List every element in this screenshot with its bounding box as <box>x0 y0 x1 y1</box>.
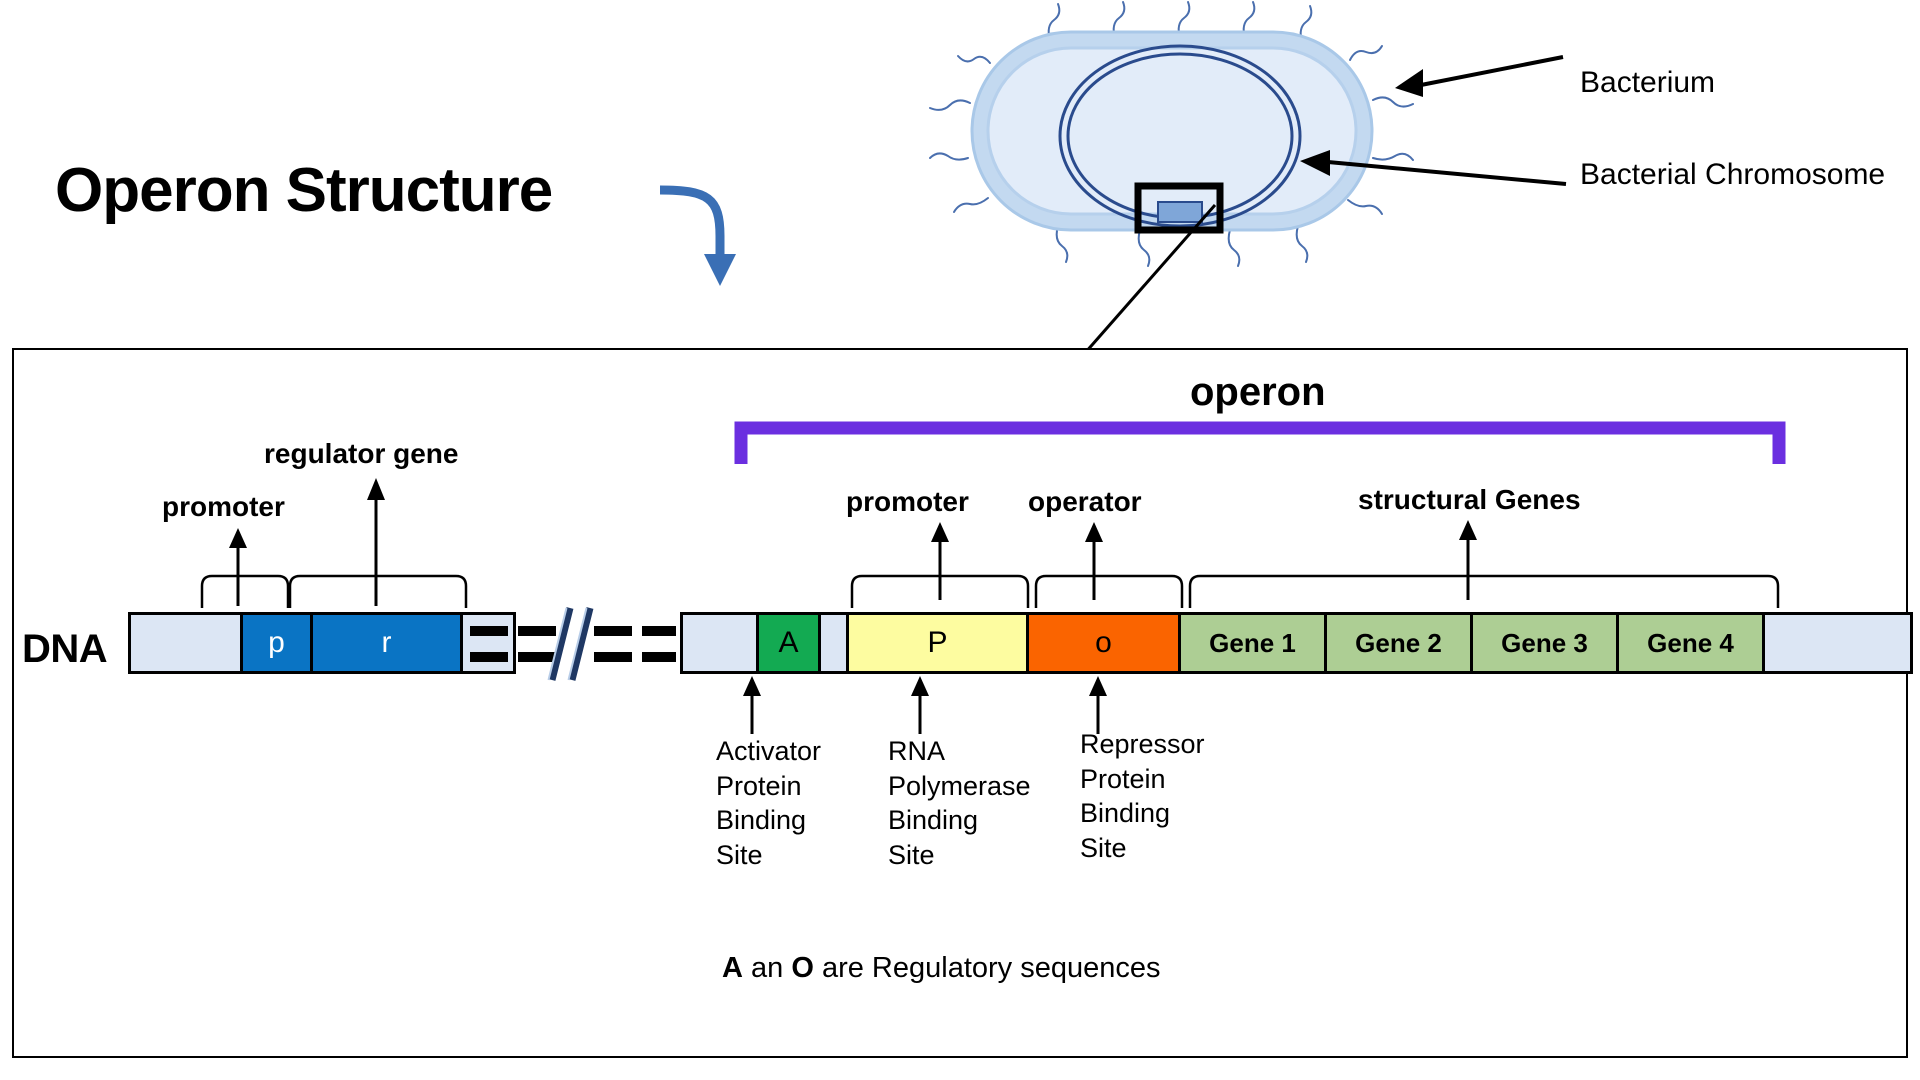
dna-label: DNA <box>22 627 107 672</box>
dna-segment-spacer-left-1 <box>131 615 243 671</box>
regulator-promoter-brace <box>200 570 290 610</box>
rna-polymerase-binding-pointer <box>890 676 950 736</box>
dna-segment-spacer-right-2 <box>821 615 849 671</box>
page-title: Operon Structure <box>55 160 552 222</box>
operon-heading: operon <box>1190 370 1326 415</box>
regulator-gene-label: regulator gene <box>264 440 458 468</box>
operon-promoter-label: promoter <box>846 488 969 516</box>
regulator-promoter-label: promoter <box>162 493 285 521</box>
chromosome-pointer-arrow-icon <box>1298 150 1568 190</box>
dna-segment-spacer-right-1 <box>683 615 759 671</box>
caption-mid: an <box>743 952 791 984</box>
dna-segment-gene-4: Gene 4 <box>1619 615 1765 671</box>
caption-bold-a: A <box>722 952 743 984</box>
operon-operator-label: operator <box>1028 488 1142 516</box>
operon-promoter-brace <box>850 568 1030 610</box>
dna-segment-regulator-r: r <box>313 615 463 671</box>
bacterium-label: Bacterium <box>1580 68 1715 98</box>
regulatory-sequences-caption: A an O are Regulatory sequences <box>722 952 1161 985</box>
chromosome-callout-line <box>1085 205 1305 365</box>
dna-strand-regulator: pr <box>128 612 516 674</box>
caption-tail: are Regulatory sequences <box>814 952 1161 984</box>
caption-bold-o: O <box>791 952 814 984</box>
title-arrow-icon <box>660 178 790 298</box>
dna-segment-operator-o: o <box>1029 615 1181 671</box>
bacterium-pointer-arrow-icon <box>1395 55 1565 95</box>
operon-operator-brace <box>1034 568 1184 610</box>
dna-segment-spacer-right-3 <box>1765 615 1910 671</box>
repressor-protein-binding-site-label: Repressor Protein Binding Site <box>1080 727 1205 865</box>
dna-segment-activator-a: A <box>759 615 821 671</box>
structural-genes-label: structural Genes <box>1358 486 1581 514</box>
activator-binding-pointer <box>722 676 782 736</box>
dna-segment-promoter-P: P <box>849 615 1029 671</box>
operon-bracket <box>735 420 1785 470</box>
rna-polymerase-binding-site-label: RNA Polymerase Binding Site <box>888 734 1031 872</box>
dna-strand-operon: APoGene 1Gene 2Gene 3Gene 4 <box>680 612 1913 674</box>
bacterial-chromosome-label: Bacterial Chromosome <box>1580 160 1885 190</box>
dna-segment-gene-3: Gene 3 <box>1473 615 1619 671</box>
dna-segment-gene-1: Gene 1 <box>1181 615 1327 671</box>
dna-segment-promoter-p: p <box>243 615 313 671</box>
activator-protein-binding-site-label: Activator Protein Binding Site <box>716 734 821 872</box>
structural-genes-brace <box>1188 568 1780 610</box>
dna-break-icon <box>466 612 680 674</box>
dna-segment-gene-2: Gene 2 <box>1327 615 1473 671</box>
regulator-gene-brace <box>288 570 468 610</box>
